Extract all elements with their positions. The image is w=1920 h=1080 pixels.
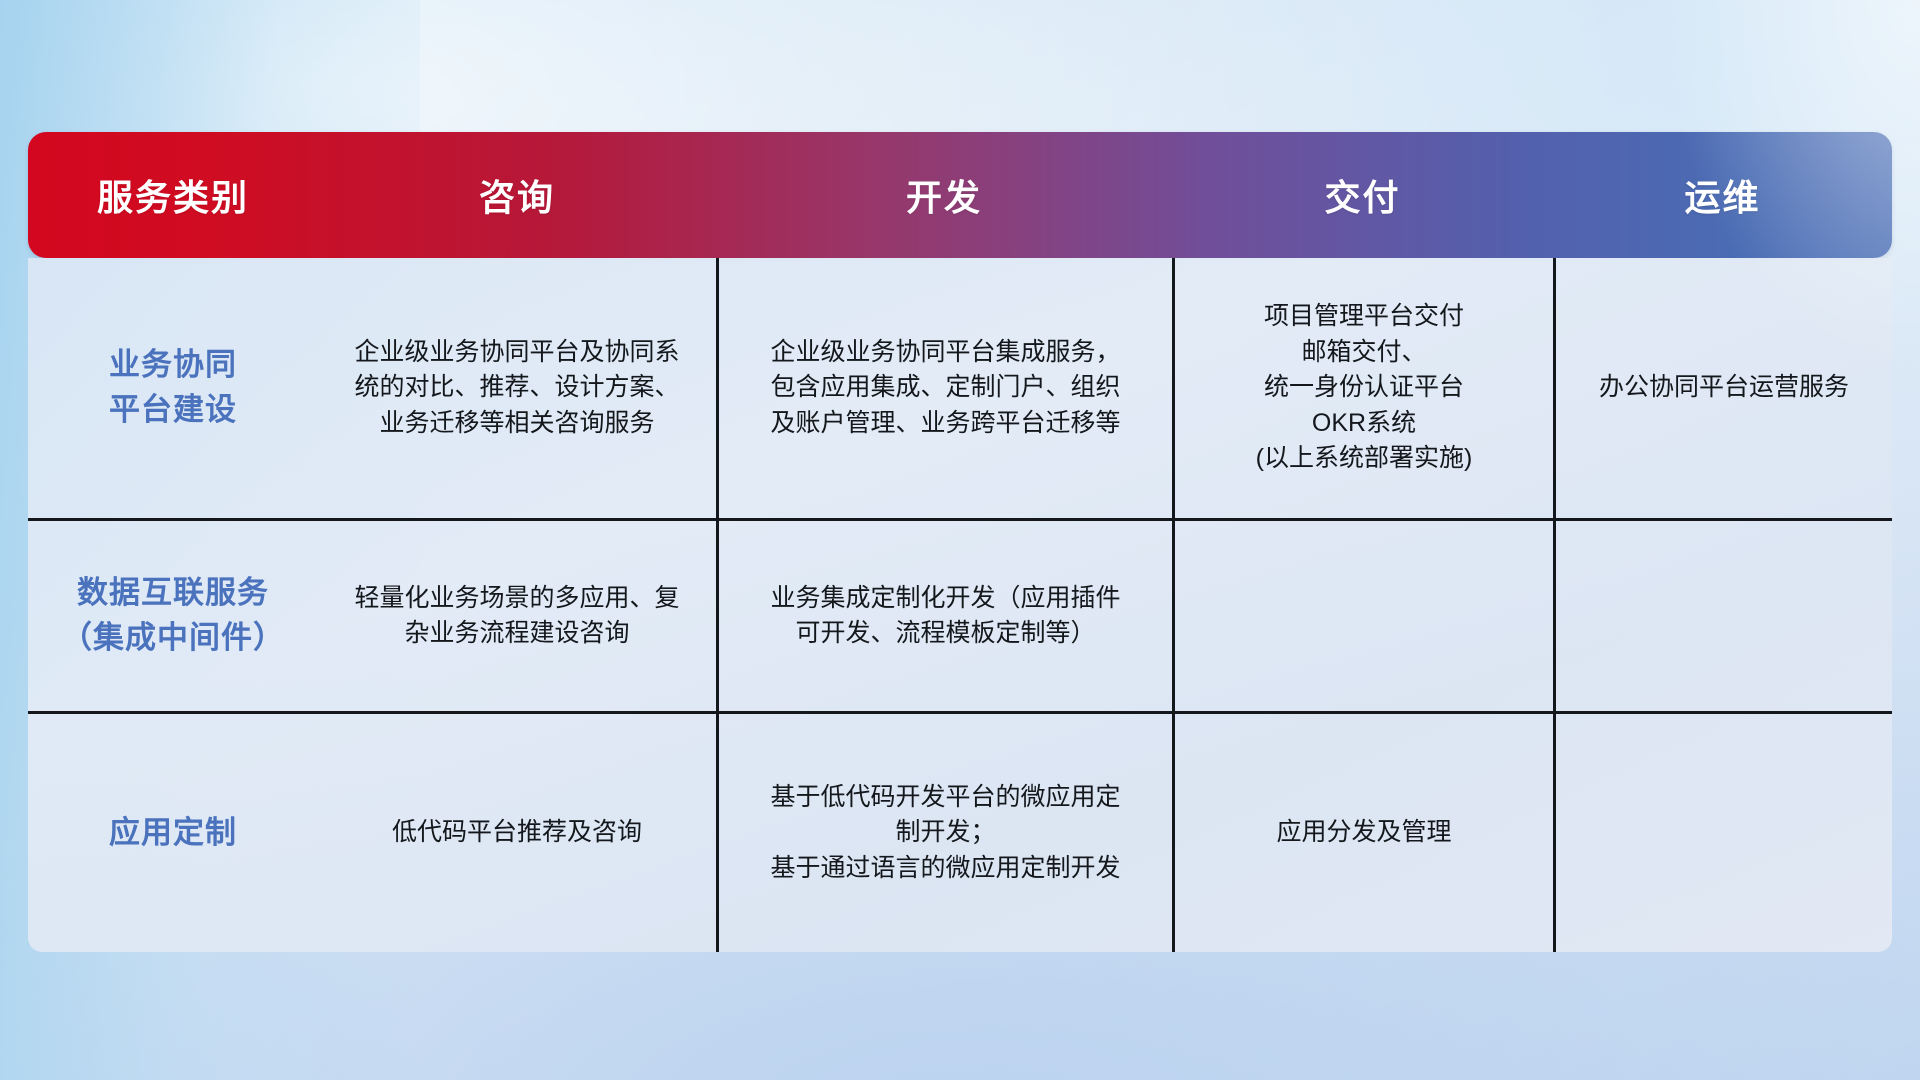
cell-development-row3: 基于低代码开发平台的微应用定 制开发； 基于通过语言的微应用定制开发 xyxy=(716,714,1172,952)
row-label-business-collaboration: 业务协同 平台建设 xyxy=(28,258,318,518)
header-development: 开发 xyxy=(716,132,1172,258)
cell-operations-row2 xyxy=(1553,521,1892,711)
header-delivery: 交付 xyxy=(1172,132,1553,258)
cell-development-row2: 业务集成定制化开发（应用插件 可开发、流程模板定制等） xyxy=(716,521,1172,711)
table-header-row: 服务类别 咨询 开发 交付 运维 xyxy=(28,132,1892,258)
cell-delivery-row3: 应用分发及管理 xyxy=(1172,714,1553,952)
cell-consulting-row3: 低代码平台推荐及咨询 xyxy=(318,714,716,952)
cell-delivery-row1: 项目管理平台交付 邮箱交付、 统一身份认证平台 OKR系统 (以上系统部署实施) xyxy=(1172,258,1553,518)
slide-canvas: 服务类别 咨询 开发 交付 运维 业务协同 平台建设 企业级业务协同平台及协同系… xyxy=(0,0,1920,1080)
header-service-category: 服务类别 xyxy=(28,132,318,258)
service-matrix-table: 服务类别 咨询 开发 交付 运维 业务协同 平台建设 企业级业务协同平台及协同系… xyxy=(28,132,1892,952)
cell-development-row1: 企业级业务协同平台集成服务， 包含应用集成、定制门户、组织 及账户管理、业务跨平… xyxy=(716,258,1172,518)
table-row: 数据互联服务 （集成中间件） 轻量化业务场景的多应用、复 杂业务流程建设咨询 业… xyxy=(28,518,1892,711)
table-row: 业务协同 平台建设 企业级业务协同平台及协同系 统的对比、推荐、设计方案、 业务… xyxy=(28,258,1892,518)
table-row: 应用定制 低代码平台推荐及咨询 基于低代码开发平台的微应用定 制开发； 基于通过… xyxy=(28,711,1892,952)
cell-operations-row1: 办公协同平台运营服务 xyxy=(1553,258,1892,518)
header-consulting: 咨询 xyxy=(318,132,716,258)
cell-operations-row3 xyxy=(1553,714,1892,952)
cell-consulting-row2: 轻量化业务场景的多应用、复 杂业务流程建设咨询 xyxy=(318,521,716,711)
header-operations: 运维 xyxy=(1553,132,1892,258)
cell-consulting-row1: 企业级业务协同平台及协同系 统的对比、推荐、设计方案、 业务迁移等相关咨询服务 xyxy=(318,258,716,518)
row-label-app-customization: 应用定制 xyxy=(28,714,318,952)
table-body: 业务协同 平台建设 企业级业务协同平台及协同系 统的对比、推荐、设计方案、 业务… xyxy=(28,258,1892,952)
row-label-data-integration: 数据互联服务 （集成中间件） xyxy=(28,521,318,711)
cell-delivery-row2 xyxy=(1172,521,1553,711)
